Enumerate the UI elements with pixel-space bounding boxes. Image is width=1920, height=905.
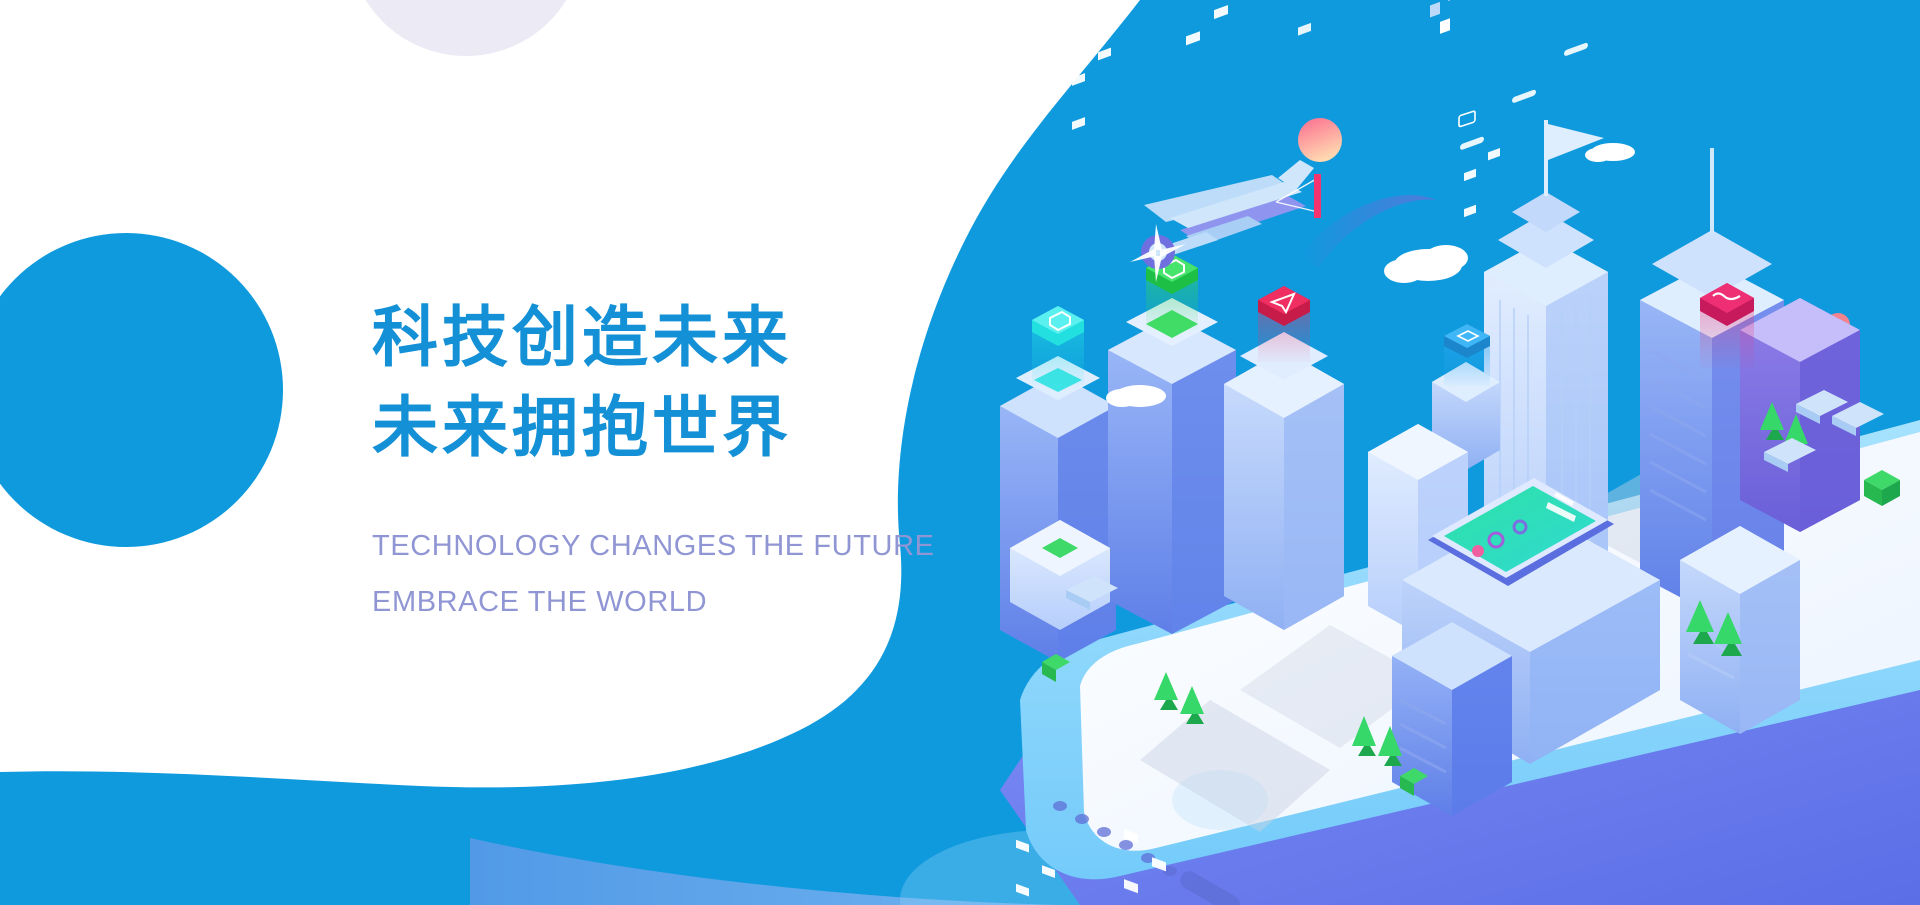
- cloud: [1384, 245, 1468, 283]
- subtitle-line-2: EMBRACE THE WORLD: [372, 574, 1072, 630]
- airplane-marker-flag: [1314, 174, 1321, 218]
- cloud: [1585, 143, 1635, 162]
- headline-line-1: 科技创造未来: [372, 300, 1072, 376]
- subtitle-line-1: TECHNOLOGY CHANGES THE FUTURE: [372, 518, 1072, 574]
- hero-copy: 科技创造未来 未来拥抱世界 TECHNOLOGY CHANGES THE FUT…: [372, 300, 1072, 630]
- headline-line-2: 未来拥抱世界: [372, 390, 1072, 466]
- card-icon: [1459, 111, 1475, 127]
- building-phone-beacon-tower: [1700, 283, 1754, 368]
- subtitle-block: TECHNOLOGY CHANGES THE FUTURE EMBRACE TH…: [372, 518, 1072, 630]
- hero-banner: 科技创造未来 未来拥抱世界 TECHNOLOGY CHANGES THE FUT…: [0, 0, 1920, 905]
